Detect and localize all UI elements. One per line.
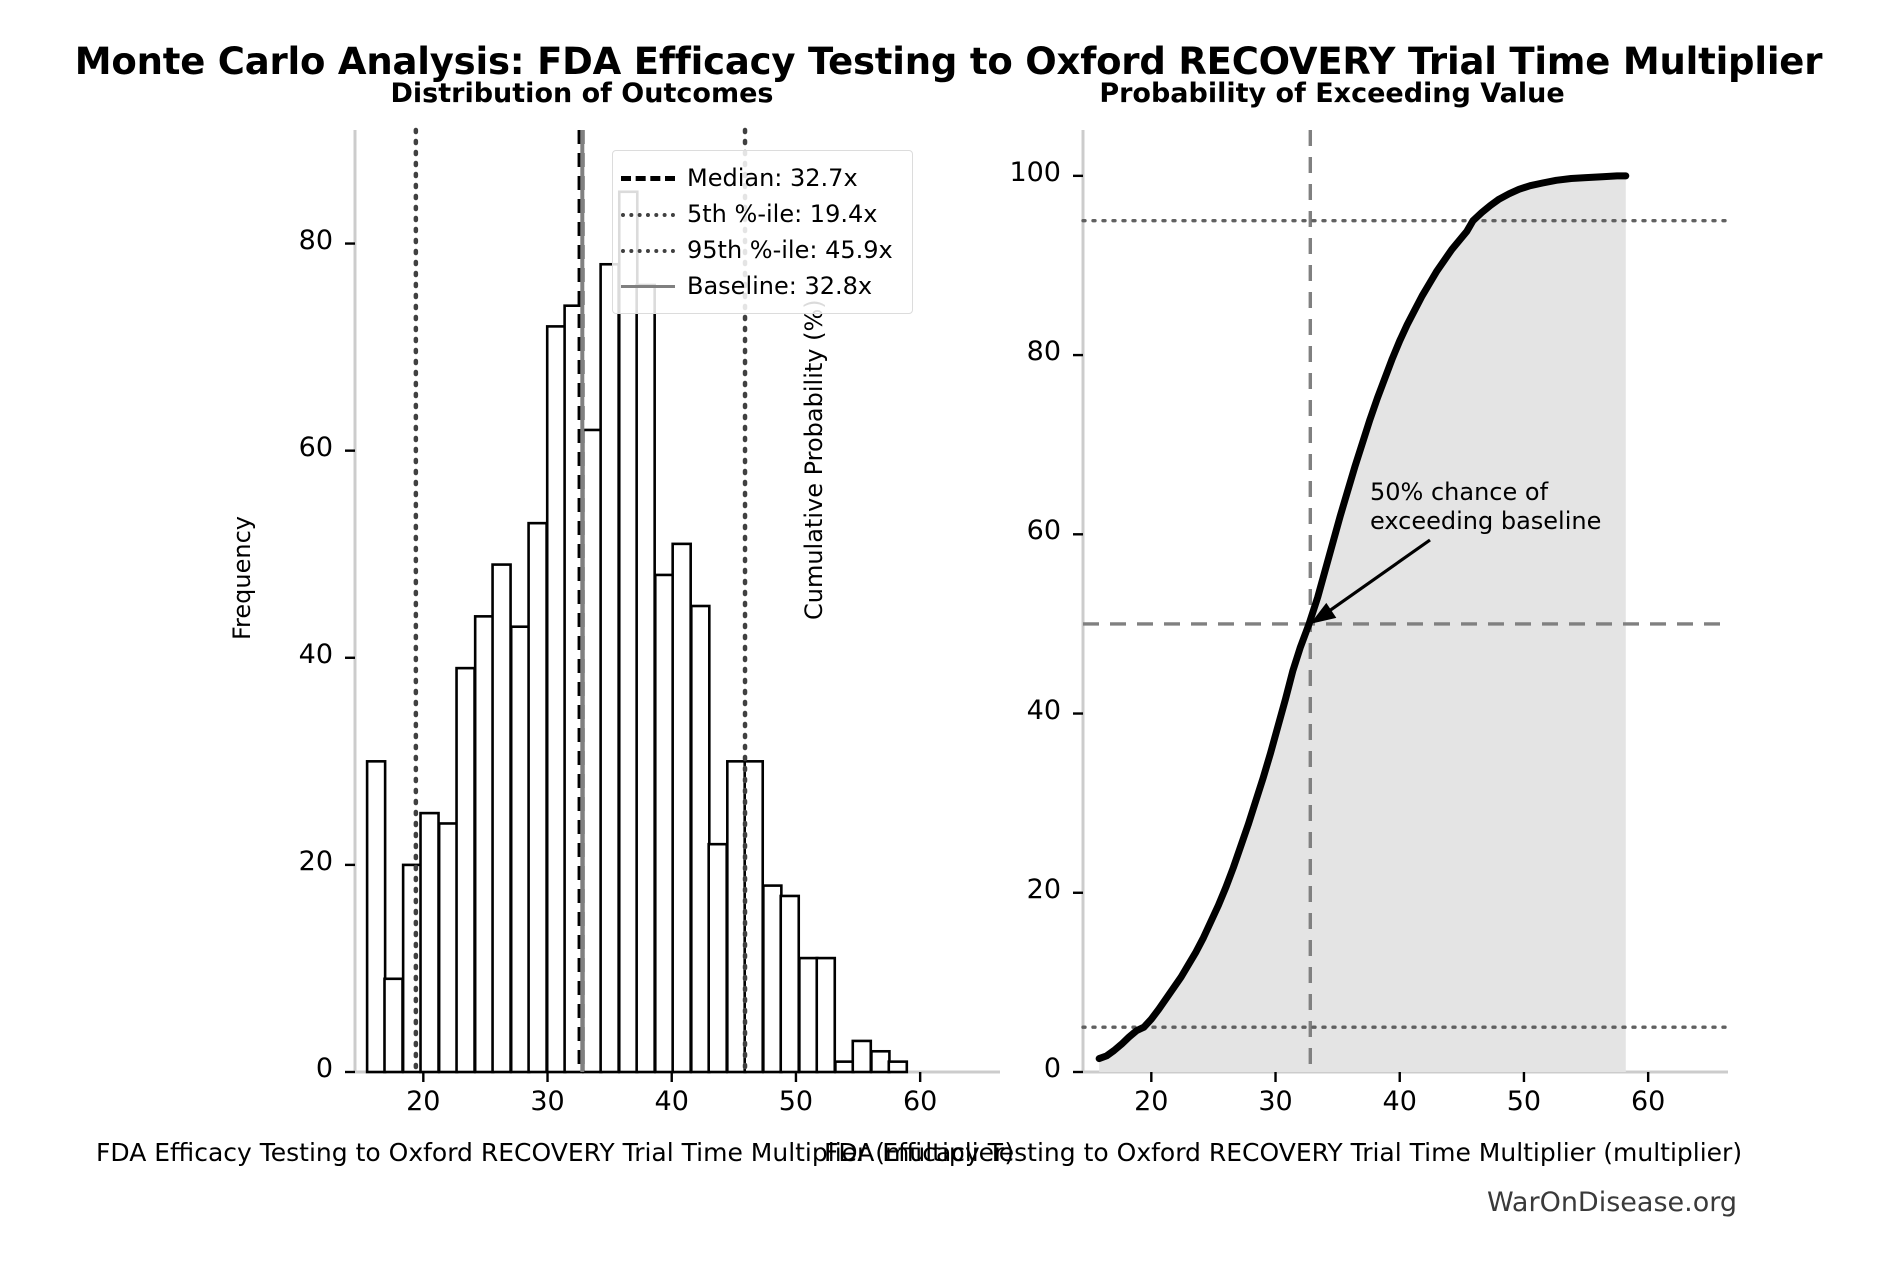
right-y-axis-label: Cumulative Probability (%) bbox=[800, 299, 828, 620]
x-tick-label-left-40: 40 bbox=[612, 1086, 732, 1117]
x-tick-label-right-30: 30 bbox=[1216, 1086, 1336, 1117]
dashed-line-icon bbox=[621, 168, 675, 188]
y-tick-label-left-80: 80 bbox=[213, 225, 333, 256]
x-tick-label-left-30: 30 bbox=[488, 1086, 608, 1117]
cdf-annotation-line1: 50% chance of bbox=[1370, 478, 1548, 506]
y-tick-label-right-80: 80 bbox=[941, 336, 1061, 367]
x-tick-label-right-60: 60 bbox=[1588, 1086, 1708, 1117]
cdf-annotation: 50% chance of exceeding baseline bbox=[1370, 478, 1601, 537]
cdf-annotation-line2: exceeding baseline bbox=[1370, 507, 1601, 535]
x-tick-label-right-20: 20 bbox=[1091, 1086, 1211, 1117]
legend-label-p95: 95th %-ile: 45.9x bbox=[687, 236, 893, 264]
legend-label-median: Median: 32.7x bbox=[687, 164, 858, 192]
left-panel-legend[interactable]: Median: 32.7x 5th %-ile: 19.4x 95th %-il… bbox=[612, 150, 913, 314]
legend-label-baseline: Baseline: 32.8x bbox=[687, 272, 872, 300]
y-tick-label-left-60: 60 bbox=[213, 432, 333, 463]
watermark: WarOnDisease.org bbox=[1487, 1187, 1737, 1218]
y-tick-label-right-20: 20 bbox=[941, 874, 1061, 905]
right-x-axis-label: FDA Efficacy Testing to Oxford RECOVERY … bbox=[824, 1138, 1742, 1167]
y-tick-label-left-20: 20 bbox=[213, 846, 333, 877]
figure-canvas: Monte Carlo Analysis: FDA Efficacy Testi… bbox=[0, 0, 1897, 1280]
solid-line-icon bbox=[621, 276, 675, 296]
y-tick-label-right-100: 100 bbox=[941, 157, 1061, 188]
legend-item-p95[interactable]: 95th %-ile: 45.9x bbox=[621, 232, 902, 268]
legend-item-baseline[interactable]: Baseline: 32.8x bbox=[621, 268, 902, 304]
legend-label-p5: 5th %-ile: 19.4x bbox=[687, 200, 877, 228]
dotted-line-icon bbox=[621, 204, 675, 224]
x-tick-label-left-50: 50 bbox=[736, 1086, 856, 1117]
legend-item-p5[interactable]: 5th %-ile: 19.4x bbox=[621, 196, 902, 232]
y-tick-label-right-60: 60 bbox=[941, 515, 1061, 546]
x-tick-label-left-20: 20 bbox=[363, 1086, 483, 1117]
x-tick-label-right-40: 40 bbox=[1340, 1086, 1460, 1117]
dotted-line-icon bbox=[621, 240, 675, 260]
legend-item-median[interactable]: Median: 32.7x bbox=[621, 160, 902, 196]
y-tick-label-left-40: 40 bbox=[213, 639, 333, 670]
x-tick-label-right-50: 50 bbox=[1464, 1086, 1584, 1117]
y-tick-label-left-0: 0 bbox=[213, 1053, 333, 1084]
y-tick-label-right-40: 40 bbox=[941, 695, 1061, 726]
x-tick-label-left-60: 60 bbox=[860, 1086, 980, 1117]
y-tick-label-right-0: 0 bbox=[941, 1053, 1061, 1084]
